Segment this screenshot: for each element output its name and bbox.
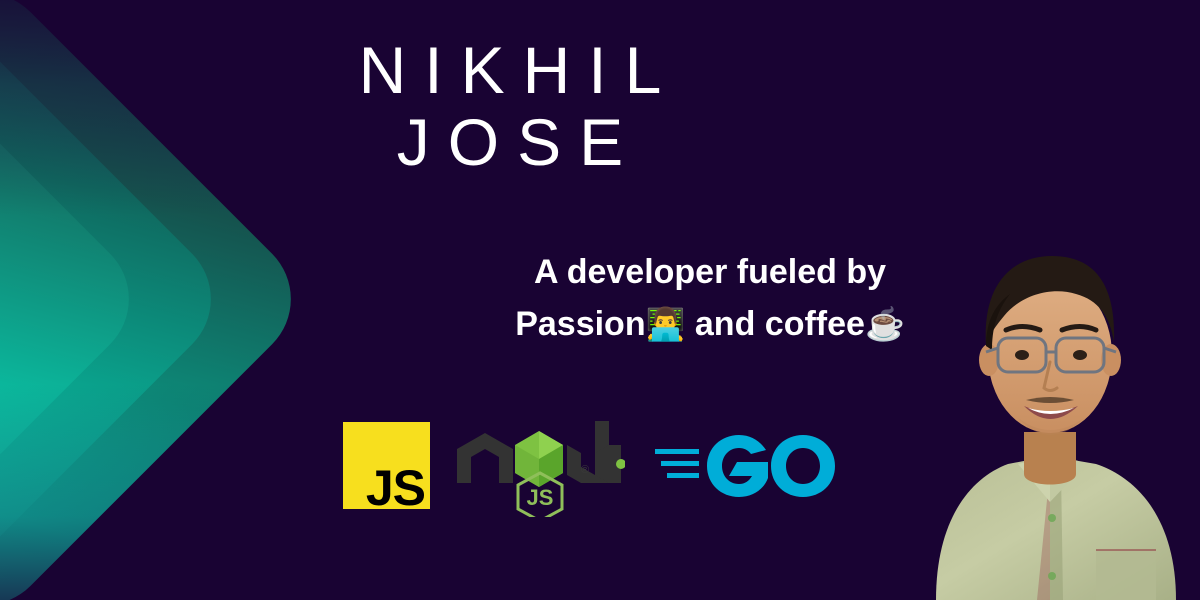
profile-banner: NIKHIL JOSE A developer fueled by Passio… xyxy=(0,0,1200,600)
tagline-passion-text: Passion xyxy=(515,305,645,343)
avatar xyxy=(900,220,1200,600)
go-logo-icon xyxy=(653,431,843,501)
svg-text:JS: JS xyxy=(527,485,554,510)
nodejs-trademark-symbol: ® xyxy=(581,465,589,476)
coffee-emoji-icon: ☕ xyxy=(865,306,905,342)
javascript-logo-icon: JS xyxy=(343,422,430,509)
name-last: JOSE xyxy=(330,106,690,178)
tagline-line-2: Passion👨‍💻 and coffee☕ xyxy=(470,298,950,350)
tech-stack-logos: JS JS ® xyxy=(335,415,845,515)
name-first: NIKHIL xyxy=(330,34,690,106)
technologist-emoji-icon: 👨‍💻 xyxy=(646,306,686,342)
nodejs-logo-icon: JS ® xyxy=(455,421,625,517)
javascript-logo-label: JS xyxy=(366,463,425,513)
tagline-line-1: A developer fueled by xyxy=(470,246,950,298)
tagline-coffee-text: and coffee xyxy=(695,305,865,343)
page-title: NIKHIL JOSE xyxy=(330,34,690,178)
tagline: A developer fueled by Passion👨‍💻 and cof… xyxy=(470,246,950,350)
